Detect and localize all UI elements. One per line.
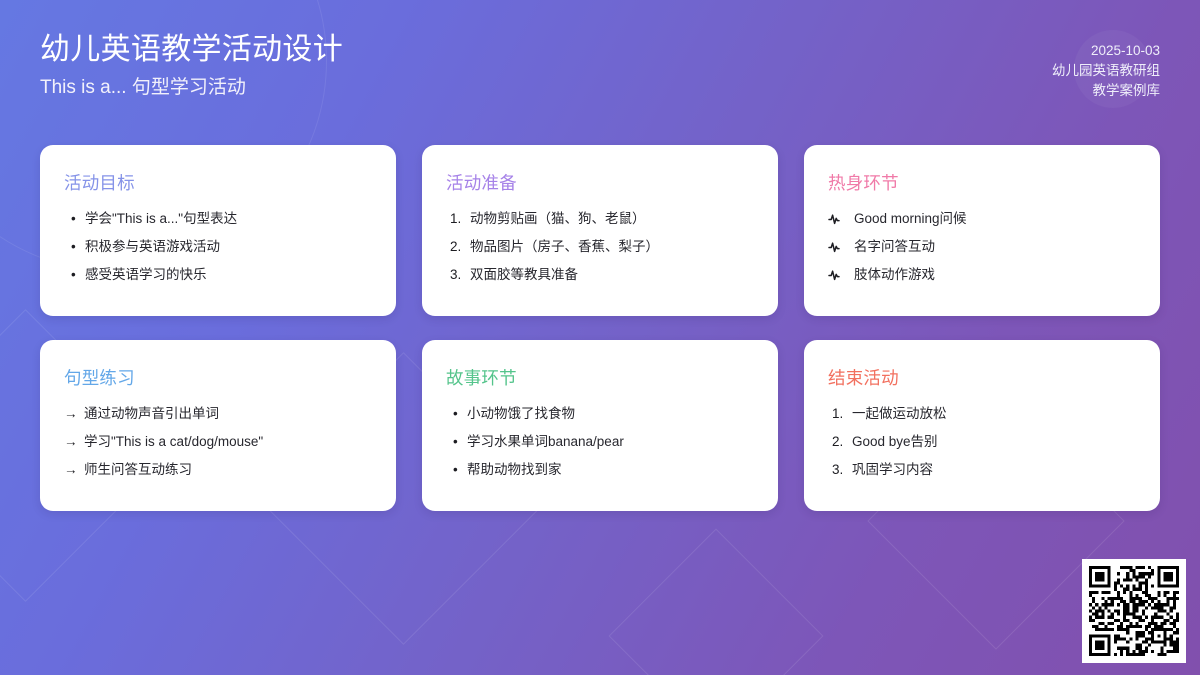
- qr-code[interactable]: [1082, 559, 1186, 663]
- card-grid: 活动目标•学会"This is a..."句型表达•积极参与英语游戏活动•感受英…: [40, 145, 1160, 511]
- list-item: 1.动物剪贴画（猫、狗、老鼠）: [446, 209, 754, 228]
- bullet-icon: •: [446, 460, 467, 479]
- card-4: 句型练习→通过动物声音引出单词→学习"This is a cat/dog/mou…: [40, 340, 396, 511]
- list-item: →学习"This is a cat/dog/mouse": [64, 432, 372, 451]
- arrow-icon: →: [64, 460, 84, 479]
- card-list: Good morning问候名字问答互动肢体动作游戏: [828, 209, 1136, 284]
- card-3: 热身环节Good morning问候名字问答互动肢体动作游戏: [804, 145, 1160, 316]
- list-number: 3.: [446, 265, 470, 284]
- list-item: 名字问答互动: [828, 237, 1136, 256]
- list-number: 1.: [446, 209, 470, 228]
- list-number: 1.: [828, 404, 852, 423]
- list-item-text: 积极参与英语游戏活动: [85, 237, 372, 256]
- bullet-icon: •: [64, 209, 85, 228]
- card-1: 活动目标•学会"This is a..."句型表达•积极参与英语游戏活动•感受英…: [40, 145, 396, 316]
- list-item: 3.巩固学习内容: [828, 460, 1136, 479]
- list-item-text: 肢体动作游戏: [854, 265, 1136, 284]
- card-title: 句型练习: [64, 366, 372, 390]
- bullet-icon: •: [446, 404, 467, 423]
- list-item: →师生问答互动练习: [64, 460, 372, 479]
- list-number: 3.: [828, 460, 852, 479]
- meta-date: 2025-10-03: [1052, 41, 1160, 61]
- list-item: •小动物饿了找食物: [446, 404, 754, 423]
- card-title: 故事环节: [446, 366, 754, 390]
- list-item: •感受英语学习的快乐: [64, 265, 372, 284]
- pulse-icon: [828, 209, 854, 228]
- list-item-text: 学习"This is a cat/dog/mouse": [84, 432, 372, 451]
- list-item: Good morning问候: [828, 209, 1136, 228]
- arrow-icon: →: [64, 432, 84, 451]
- list-item: 肢体动作游戏: [828, 265, 1136, 284]
- list-item: •帮助动物找到家: [446, 460, 754, 479]
- list-item-text: 感受英语学习的快乐: [85, 265, 372, 284]
- page-subtitle: This is a... 句型学习活动: [40, 74, 343, 102]
- meta-collection: 教学案例库: [1052, 81, 1160, 101]
- list-number: 2.: [828, 432, 852, 451]
- slide-header: 幼儿英语教学活动设计 This is a... 句型学习活动 2025-10-0…: [0, 0, 1200, 128]
- list-item-text: 双面胶等教具准备: [470, 265, 754, 284]
- list-item-text: 动物剪贴画（猫、狗、老鼠）: [470, 209, 754, 228]
- card-title: 活动目标: [64, 171, 372, 195]
- pulse-icon: [828, 265, 854, 284]
- list-number: 2.: [446, 237, 470, 256]
- bullet-icon: •: [446, 432, 467, 451]
- card-6: 结束活动1.一起做运动放松2.Good bye告别3.巩固学习内容: [804, 340, 1160, 511]
- list-item: 3.双面胶等教具准备: [446, 265, 754, 284]
- list-item-text: 帮助动物找到家: [467, 460, 754, 479]
- bullet-icon: •: [64, 265, 85, 284]
- page-title: 幼儿英语教学活动设计: [40, 30, 343, 70]
- list-item: 2.物品图片（房子、香蕉、梨子）: [446, 237, 754, 256]
- card-list: 1.动物剪贴画（猫、狗、老鼠）2.物品图片（房子、香蕉、梨子）3.双面胶等教具准…: [446, 209, 754, 284]
- list-item-text: 一起做运动放松: [852, 404, 1136, 423]
- meta-organization: 幼儿园英语教研组: [1052, 61, 1160, 81]
- slide-root: 幼儿英语教学活动设计 This is a... 句型学习活动 2025-10-0…: [0, 0, 1200, 675]
- list-item-text: 巩固学习内容: [852, 460, 1136, 479]
- list-item-text: 学习水果单词banana/pear: [467, 432, 754, 451]
- list-item-text: Good bye告别: [852, 432, 1136, 451]
- list-item: 1.一起做运动放松: [828, 404, 1136, 423]
- list-item: •学会"This is a..."句型表达: [64, 209, 372, 228]
- card-list: •学会"This is a..."句型表达•积极参与英语游戏活动•感受英语学习的…: [64, 209, 372, 284]
- header-meta: 2025-10-03 幼儿园英语教研组 教学案例库: [1052, 30, 1160, 101]
- list-item: •学习水果单词banana/pear: [446, 432, 754, 451]
- list-item-text: 师生问答互动练习: [84, 460, 372, 479]
- card-5: 故事环节•小动物饿了找食物•学习水果单词banana/pear•帮助动物找到家: [422, 340, 778, 511]
- list-item-text: 物品图片（房子、香蕉、梨子）: [470, 237, 754, 256]
- list-item-text: 名字问答互动: [854, 237, 1136, 256]
- bullet-icon: •: [64, 237, 85, 256]
- card-title: 热身环节: [828, 171, 1136, 195]
- list-item-text: Good morning问候: [854, 209, 1136, 228]
- list-item: 2.Good bye告别: [828, 432, 1136, 451]
- card-list: 1.一起做运动放松2.Good bye告别3.巩固学习内容: [828, 404, 1136, 479]
- pulse-icon: [828, 237, 854, 256]
- arrow-icon: →: [64, 404, 84, 423]
- card-title: 结束活动: [828, 366, 1136, 390]
- list-item-text: 通过动物声音引出单词: [84, 404, 372, 423]
- title-block: 幼儿英语教学活动设计 This is a... 句型学习活动: [40, 30, 343, 102]
- qr-code-image: [1089, 566, 1179, 656]
- card-list: •小动物饿了找食物•学习水果单词banana/pear•帮助动物找到家: [446, 404, 754, 479]
- list-item-text: 小动物饿了找食物: [467, 404, 754, 423]
- card-list: →通过动物声音引出单词→学习"This is a cat/dog/mouse"→…: [64, 404, 372, 479]
- list-item: •积极参与英语游戏活动: [64, 237, 372, 256]
- card-title: 活动准备: [446, 171, 754, 195]
- list-item: →通过动物声音引出单词: [64, 404, 372, 423]
- list-item-text: 学会"This is a..."句型表达: [85, 209, 372, 228]
- decorative-diamond-4: [609, 529, 824, 675]
- card-2: 活动准备1.动物剪贴画（猫、狗、老鼠）2.物品图片（房子、香蕉、梨子）3.双面胶…: [422, 145, 778, 316]
